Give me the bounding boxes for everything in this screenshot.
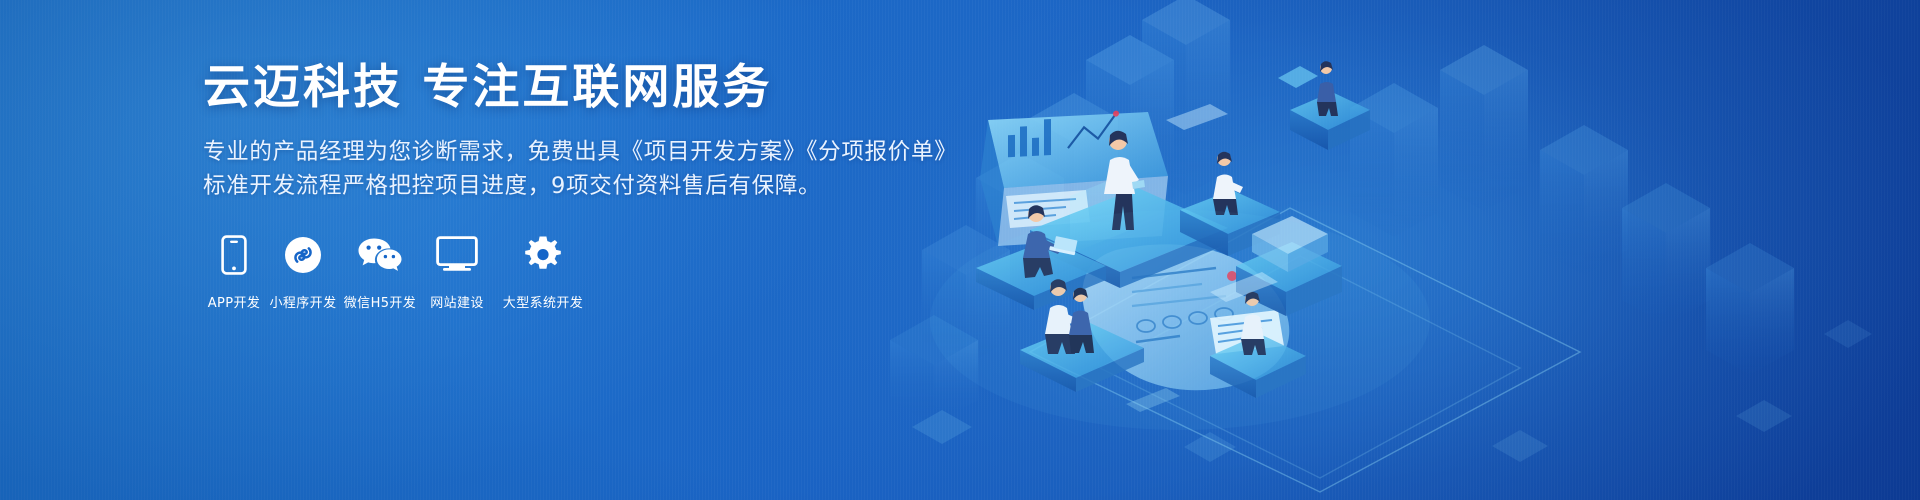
service-label-mini-program: 小程序开发 xyxy=(269,292,336,311)
mobile-phone-icon xyxy=(221,232,247,278)
service-label-large-system: 大型系统开发 xyxy=(503,292,583,311)
mini-program-icon xyxy=(284,232,322,278)
hero-subtitle: 专业的产品经理为您诊断需求，免费出具《项目开发方案》《分项报价单》 标准开发流程… xyxy=(203,135,963,203)
subtitle-line-2: 标准开发流程严格把控项目进度，9项交付资料售后有保障。 xyxy=(203,169,963,203)
service-item-app[interactable]: APP开发 xyxy=(203,232,265,311)
wechat-icon xyxy=(357,232,403,278)
service-list: APP开发 小程序开发 xyxy=(203,232,591,311)
monitor-icon xyxy=(436,232,478,278)
service-label-wechat-h5: 微信H5开发 xyxy=(344,292,416,311)
subtitle-line-1: 专业的产品经理为您诊断需求，免费出具《项目开发方案》《分项报价单》 xyxy=(203,135,963,169)
service-label-app: APP开发 xyxy=(208,292,261,311)
service-item-wechat-h5[interactable]: 微信H5开发 xyxy=(341,232,419,311)
page-title: 云迈科技 专注互联网服务 xyxy=(203,62,963,115)
hero-copy: 云迈科技 专注互联网服务 专业的产品经理为您诊断需求，免费出具《项目开发方案》《… xyxy=(203,62,963,203)
service-item-website[interactable]: 网站建设 xyxy=(420,232,494,311)
gear-icon xyxy=(523,232,563,278)
hero-illustration xyxy=(880,0,1920,500)
hero-banner: 云迈科技 专注互联网服务 专业的产品经理为您诊断需求，免费出具《项目开发方案》《… xyxy=(0,0,1920,500)
service-label-website: 网站建设 xyxy=(430,292,484,311)
service-item-mini-program[interactable]: 小程序开发 xyxy=(266,232,340,311)
service-item-large-system[interactable]: 大型系统开发 xyxy=(495,232,591,311)
